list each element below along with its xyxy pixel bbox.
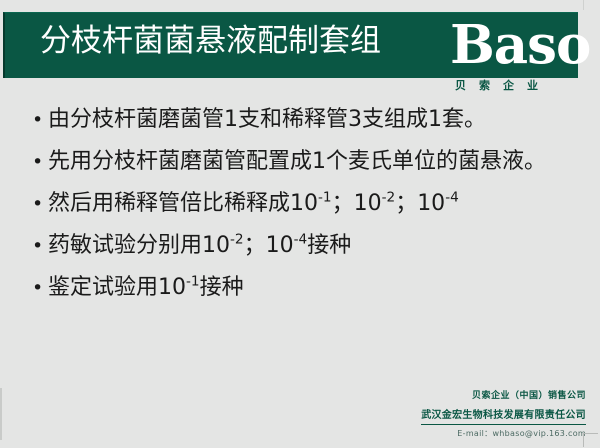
list-item-text: 然后用稀释管倍比稀释成10-1；10-2；10-4 bbox=[48, 188, 575, 220]
page-title: 分枝杆菌菌悬液配制套组 bbox=[40, 22, 381, 60]
bullet-dot-icon: • bbox=[30, 104, 48, 136]
footer-company-legal: 武汉金宏生物科技发展有限责任公司 bbox=[421, 409, 586, 425]
bullet-dot-icon: • bbox=[30, 146, 48, 178]
list-item-text: 先用分枝杆菌磨菌管配置成1个麦氏单位的菌悬液。 bbox=[48, 146, 575, 178]
list-item-text: 鉴定试验用10-1接种 bbox=[48, 272, 575, 304]
bullet-dot-icon: • bbox=[30, 272, 48, 304]
page-edge-left-mark bbox=[0, 388, 2, 440]
bullet-list: •由分枝杆菌磨菌管1支和稀释管3支组成1套。•先用分枝杆菌磨菌管配置成1个麦氏单… bbox=[30, 104, 575, 314]
footer-email: E-mail：whbaso@vip.163.com bbox=[336, 427, 586, 440]
list-item-text: 药敏试验分别用10-2；10-4接种 bbox=[48, 230, 575, 262]
brand-subtitle: 贝索企业 bbox=[455, 78, 551, 93]
exponent: -2 bbox=[382, 190, 396, 206]
list-item: •药敏试验分别用10-2；10-4接种 bbox=[30, 230, 575, 262]
exponent: -4 bbox=[294, 232, 308, 248]
bullet-dot-icon: • bbox=[30, 188, 48, 220]
footer-block: 贝索企业（中国）销售公司 武汉金宏生物科技发展有限责任公司 E-mail：whb… bbox=[336, 390, 586, 440]
list-item-text: 由分枝杆菌磨菌管1支和稀释管3支组成1套。 bbox=[48, 104, 575, 136]
page-corner-mark bbox=[583, 433, 598, 447]
brand-logo: Baso bbox=[450, 16, 590, 74]
list-item: •然后用稀释管倍比稀释成10-1；10-2；10-4 bbox=[30, 188, 575, 220]
footer-company-sales: 贝索企业（中国）销售公司 bbox=[336, 390, 586, 403]
list-item: •由分枝杆菌磨菌管1支和稀释管3支组成1套。 bbox=[30, 104, 575, 136]
list-item: •鉴定试验用10-1接种 bbox=[30, 272, 575, 304]
exponent: -1 bbox=[318, 190, 332, 206]
exponent: -2 bbox=[230, 232, 244, 248]
slide-canvas: 分枝杆菌菌悬液配制套组 Baso 贝索企业 •由分枝杆菌磨菌管1支和稀释管3支组… bbox=[0, 0, 600, 448]
bullet-dot-icon: • bbox=[30, 230, 48, 262]
page-edge-top-right-mark bbox=[583, 0, 598, 10]
list-item: •先用分枝杆菌磨菌管配置成1个麦氏单位的菌悬液。 bbox=[30, 146, 575, 178]
exponent: -1 bbox=[186, 274, 200, 290]
exponent: -4 bbox=[445, 190, 459, 206]
